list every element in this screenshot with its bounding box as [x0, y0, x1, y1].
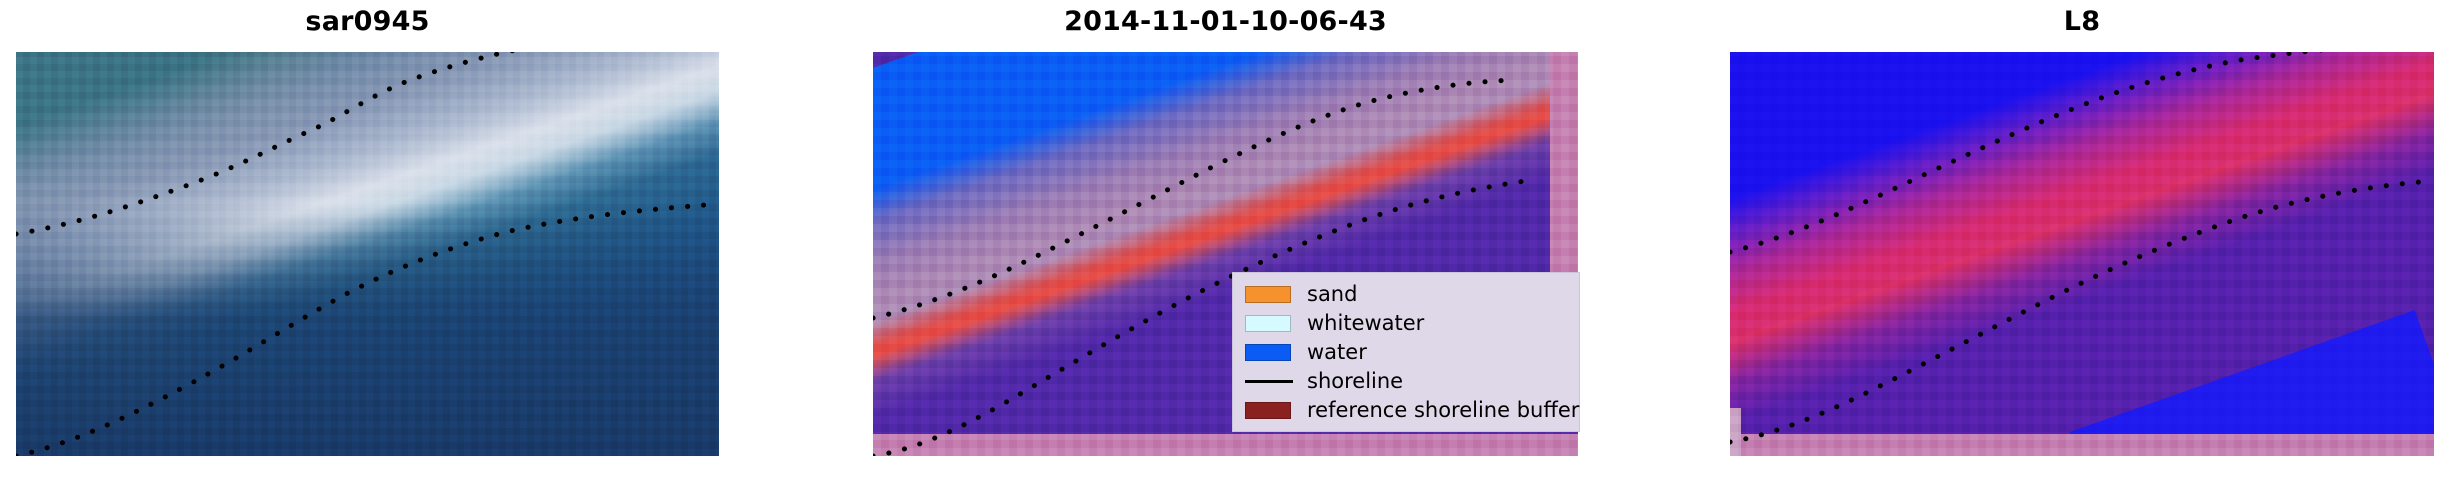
- image-sar0945: [16, 52, 719, 456]
- legend-label-water: water: [1303, 342, 1367, 363]
- legend-box: sand whitewater water shoreline referenc: [1232, 272, 1580, 432]
- shoreline-line-icon: [1245, 380, 1293, 383]
- sand-swatch-icon: [1245, 286, 1291, 303]
- image-L8: [1730, 52, 2434, 456]
- legend-label-reference-shoreline-buffer: reference shoreline buffer: [1303, 400, 1579, 421]
- legend-item-reference-shoreline-buffer: reference shoreline buffer: [1245, 396, 1569, 425]
- legend-item-shoreline: shoreline: [1245, 367, 1569, 396]
- legend-swatch-wrap-sand: [1245, 286, 1303, 303]
- legend-label-whitewater: whitewater: [1303, 313, 1424, 334]
- reference-shoreline-buffer-swatch-icon: [1245, 402, 1291, 419]
- legend-item-whitewater: whitewater: [1245, 309, 1569, 338]
- panel-title-2014-11-01-10-06-43: 2014-11-01-10-06-43: [873, 6, 1578, 37]
- legend-swatch-wrap-water: [1245, 344, 1303, 361]
- legend-swatch-wrap-shoreline: [1245, 380, 1303, 383]
- legend-label-sand: sand: [1303, 284, 1357, 305]
- legend-item-sand: sand: [1245, 280, 1569, 309]
- legend-swatch-wrap-reference-buffer: [1245, 402, 1303, 419]
- legend-item-water: water: [1245, 338, 1569, 367]
- water-swatch-icon: [1245, 344, 1291, 361]
- sar-pixel-texture: [16, 52, 719, 456]
- figure-canvas: sar0945 2014-11-01-10-06-43 L8: [0, 0, 2460, 484]
- legend-label-shoreline: shoreline: [1303, 371, 1403, 392]
- legend-swatch-wrap-whitewater: [1245, 315, 1303, 332]
- panel-title-L8: L8: [1730, 6, 2434, 37]
- l8-pixel-texture: [1730, 52, 2434, 456]
- whitewater-swatch-icon: [1245, 315, 1291, 332]
- panel-title-sar0945: sar0945: [16, 6, 719, 37]
